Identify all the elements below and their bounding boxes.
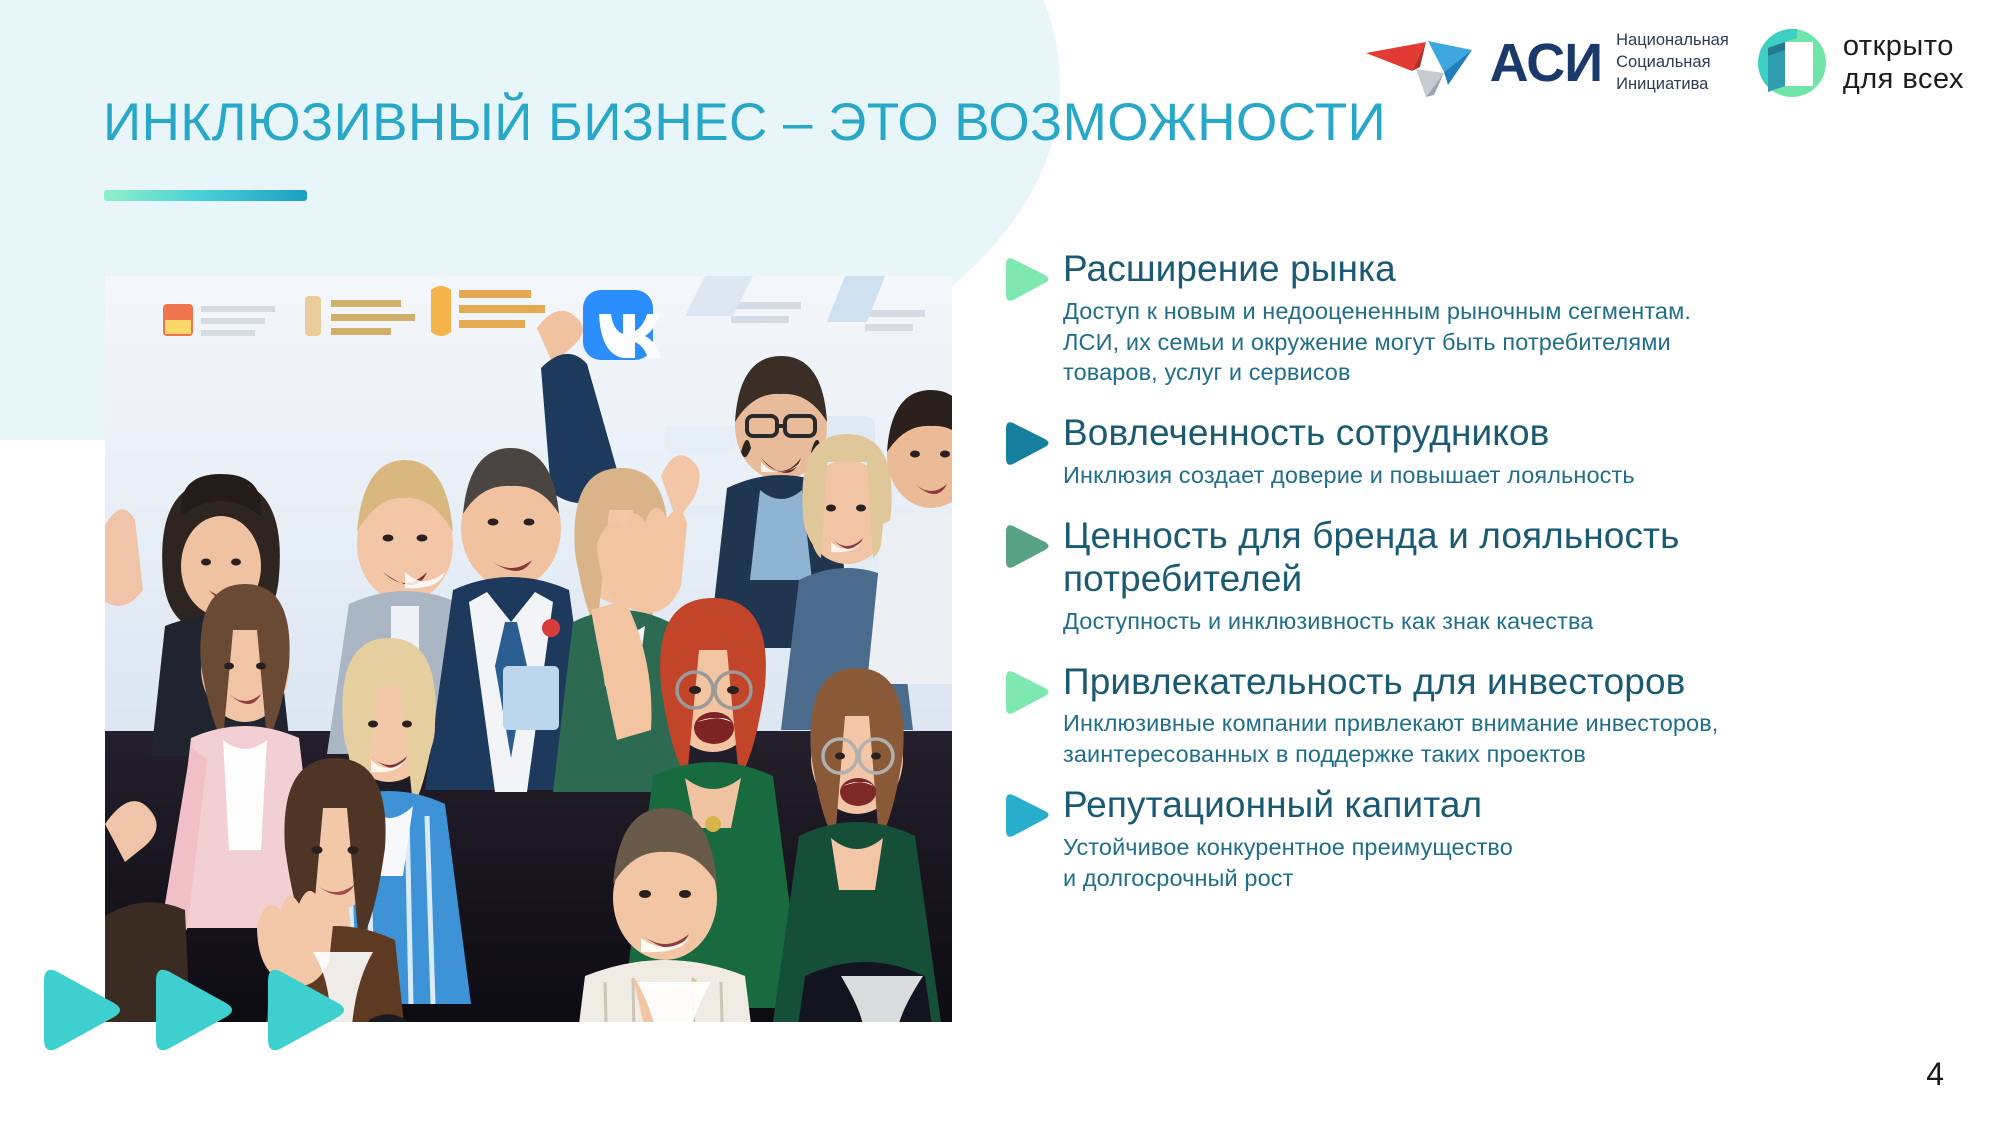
benefit-item-1: Расширение рынка Доступ к новым и недооц… — [1005, 248, 1973, 388]
play-triangle-icon — [1005, 256, 1051, 303]
logo-row: АСИ Национальная Социальная Инициатива о… — [1364, 26, 1964, 100]
benefits-list: Расширение рынка Доступ к новым и недооц… — [1005, 248, 1973, 913]
benefit-item-2: Вовлеченность сотрудников Инклюзия созда… — [1005, 412, 1973, 491]
benefit-marker-3 — [1005, 515, 1063, 570]
open-door-circle-icon — [1755, 26, 1829, 100]
benefit-title: Репутационный капитал — [1063, 784, 1973, 827]
play-triangle-icon — [1005, 669, 1051, 716]
play-triangle-icon — [1005, 523, 1051, 570]
decorative-triangles — [42, 965, 349, 1055]
benefit-item-3: Ценность для бренда и лояльность потреби… — [1005, 515, 1973, 637]
benefit-marker-2 — [1005, 412, 1063, 467]
benefit-marker-4 — [1005, 661, 1063, 716]
group-photo-image — [105, 276, 952, 1022]
slide-canvas: АСИ Национальная Социальная Инициатива о… — [0, 0, 2000, 1125]
benefit-item-5: Репутационный капитал Устойчивое конкуре… — [1005, 784, 1973, 893]
play-triangle-icon — [42, 965, 125, 1055]
benefit-description: Инклюзивные компании привлекают внимание… — [1063, 708, 1973, 770]
play-triangle-icon — [1005, 792, 1051, 839]
play-triangle-icon — [266, 965, 349, 1055]
page-number: 4 — [1926, 1056, 1944, 1093]
page-title: ИНКЛЮЗИВНЫЙ БИЗНЕС – ЭТО ВОЗМОЖНОСТИ — [103, 92, 1386, 153]
benefit-title: Расширение рынка — [1063, 248, 1973, 291]
benefit-item-4: Привлекательность для инвесторов Инклюзи… — [1005, 661, 1973, 770]
group-photo — [105, 276, 952, 1022]
open-for-all-logo: открыто для всех — [1755, 26, 1964, 100]
title-underline-accent — [104, 190, 307, 201]
benefit-description: Инклюзия создает доверие и повышает лоял… — [1063, 460, 1973, 491]
benefit-marker-5 — [1005, 784, 1063, 839]
asi-arrow-mark-icon — [1364, 27, 1476, 99]
benefit-description: Доступность и инклюзивность как знак кач… — [1063, 606, 1973, 637]
benefit-title: Вовлеченность сотрудников — [1063, 412, 1973, 455]
asi-wordmark: АСИ — [1490, 36, 1602, 90]
benefit-title: Ценность для бренда и лояльность потреби… — [1063, 515, 1973, 601]
asi-subtitle: Национальная Социальная Инициатива — [1616, 30, 1729, 95]
play-triangle-icon — [1005, 420, 1051, 467]
benefit-marker-1 — [1005, 248, 1063, 303]
benefit-description: Устойчивое конкурентное преимущество и д… — [1063, 832, 1973, 894]
benefit-title: Привлекательность для инвесторов — [1063, 661, 1973, 704]
benefit-description: Доступ к новым и недооцененным рыночным … — [1063, 296, 1973, 388]
asi-logo: АСИ Национальная Социальная Инициатива — [1364, 27, 1729, 99]
play-triangle-icon — [154, 965, 237, 1055]
open-for-all-wordmark: открыто для всех — [1843, 30, 1964, 96]
